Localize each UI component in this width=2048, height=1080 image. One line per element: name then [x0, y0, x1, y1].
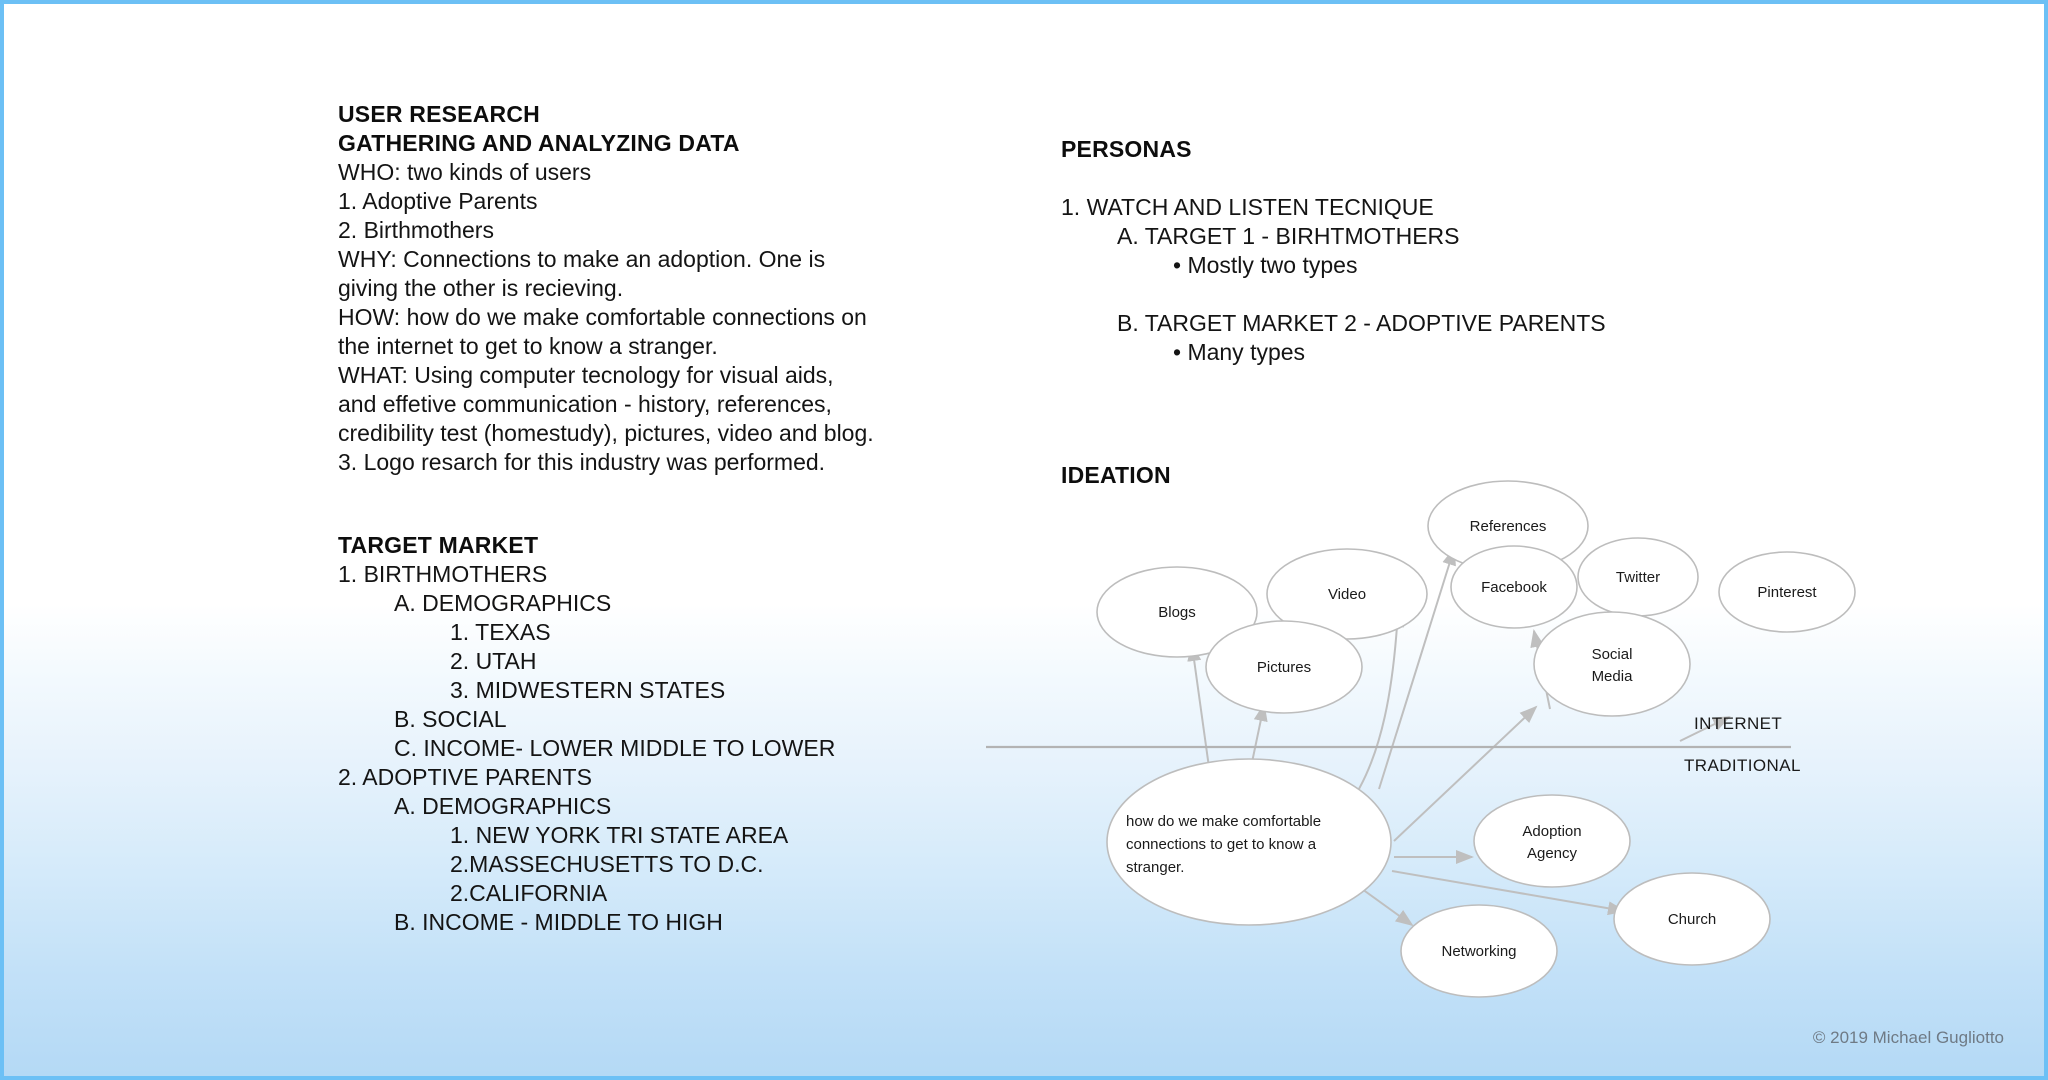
target-market-line-11: 2.CALIFORNIA: [338, 879, 998, 908]
node-label-networking: Networking: [1441, 943, 1516, 960]
user-research-heading-line-2: GATHERING AND ANALYZING DATA: [338, 129, 978, 158]
target-market-line-6: C. INCOME- LOWER MIDDLE TO LOWER: [338, 734, 998, 763]
personas-line-0: 1. WATCH AND LISTEN TECNIQUE: [1061, 193, 1821, 222]
node-label-church: Church: [1668, 911, 1716, 928]
node-label-video: Video: [1328, 586, 1366, 603]
target-market-line-7: 2. ADOPTIVE PARENTS: [338, 763, 998, 792]
zone-label-traditional: TRADITIONAL: [1684, 756, 1801, 775]
personas-line-4: B. TARGET MARKET 2 - ADOPTIVE PARENTS: [1061, 309, 1821, 338]
node-church[interactable]: Church: [1614, 873, 1770, 965]
personas-section: PERSONAS 1. WATCH AND LISTEN TECNIQUEA. …: [1061, 135, 1821, 367]
user-research-line-7: WHAT: Using computer tecnology for visua…: [338, 361, 978, 390]
target-market-line-3: 2. UTAH: [338, 647, 998, 676]
zone-label-internet: INTERNET: [1694, 714, 1782, 733]
node-facebook[interactable]: Facebook: [1451, 546, 1577, 628]
personas-line-5: • Many types: [1061, 338, 1821, 367]
node-label-adoption-agency-line-2: Agency: [1527, 845, 1578, 862]
user-research-body: WHO: two kinds of users1. Adoptive Paren…: [338, 158, 978, 477]
personas-heading: PERSONAS: [1061, 135, 1821, 164]
target-market-section: TARGET MARKET 1. BIRTHMOTHERSA. DEMOGRAP…: [338, 531, 998, 937]
node-label-central-line-3: stranger.: [1126, 859, 1184, 876]
target-market-line-10: 2.MASSECHUSETTS TO D.C.: [338, 850, 998, 879]
node-pinterest[interactable]: Pinterest: [1719, 552, 1855, 632]
node-label-central-line-2: connections to get to know a: [1126, 836, 1317, 853]
user-research-line-3: WHY: Connections to make an adoption. On…: [338, 245, 978, 274]
target-market-body: 1. BIRTHMOTHERSA. DEMOGRAPHICS1. TEXAS2.…: [338, 560, 998, 937]
node-label-twitter: Twitter: [1616, 569, 1660, 586]
target-market-heading: TARGET MARKET: [338, 531, 998, 560]
target-market-line-12: B. INCOME - MIDDLE TO HIGH: [338, 908, 998, 937]
user-research-line-4: giving the other is recieving.: [338, 274, 978, 303]
user-research-section: USER RESEARCH GATHERING AND ANALYZING DA…: [338, 100, 978, 477]
user-research-line-5: HOW: how do we make comfortable connecti…: [338, 303, 978, 332]
node-pictures[interactable]: Pictures: [1206, 621, 1362, 713]
node-label-adoption-agency-line-1: Adoption: [1522, 823, 1581, 840]
node-twitter[interactable]: Twitter: [1578, 538, 1698, 616]
user-research-line-2: 2. Birthmothers: [338, 216, 978, 245]
edge-central-to-video: [1346, 611, 1398, 809]
target-market-line-8: A. DEMOGRAPHICS: [338, 792, 998, 821]
node-networking[interactable]: Networking: [1401, 905, 1557, 997]
node-label-facebook: Facebook: [1481, 579, 1547, 596]
personas-line-2: • Mostly two types: [1061, 251, 1821, 280]
slide-page: USER RESEARCH GATHERING AND ANALYZING DA…: [0, 0, 2048, 1080]
target-market-line-9: 1. NEW YORK TRI STATE AREA: [338, 821, 998, 850]
node-label-blogs: Blogs: [1158, 604, 1196, 621]
copyright-notice: © 2019 Michael Gugliotto: [1813, 1028, 2004, 1048]
target-market-line-1: A. DEMOGRAPHICS: [338, 589, 998, 618]
user-research-line-10: 3. Logo resarch for this industry was pe…: [338, 448, 978, 477]
node-central-question[interactable]: how do we make comfortable connections t…: [1107, 759, 1391, 925]
personas-body: 1. WATCH AND LISTEN TECNIQUEA. TARGET 1 …: [1061, 193, 1821, 367]
ideation-mindmap: INTERNET TRADITIONAL References Video Bl…: [1084, 459, 1904, 989]
node-label-pinterest: Pinterest: [1757, 584, 1817, 601]
target-market-line-0: 1. BIRTHMOTHERS: [338, 560, 998, 589]
node-label-central-line-1: how do we make comfortable: [1126, 813, 1321, 830]
personas-spacer: [1061, 164, 1821, 193]
user-research-line-8: and effetive communication - history, re…: [338, 390, 978, 419]
node-label-social-media-line-2: Media: [1592, 668, 1634, 685]
target-market-line-5: B. SOCIAL: [338, 705, 998, 734]
user-research-line-0: WHO: two kinds of users: [338, 158, 978, 187]
node-adoption-agency[interactable]: Adoption Agency: [1474, 795, 1630, 887]
user-research-line-6: the internet to get to know a stranger.: [338, 332, 978, 361]
edge-central-to-networking: [1362, 889, 1412, 925]
user-research-heading-line-1: USER RESEARCH: [338, 100, 978, 129]
user-research-line-1: 1. Adoptive Parents: [338, 187, 978, 216]
node-label-social-media-line-1: Social: [1592, 646, 1633, 663]
node-label-pictures: Pictures: [1257, 659, 1311, 676]
target-market-line-2: 1. TEXAS: [338, 618, 998, 647]
target-market-line-4: 3. MIDWESTERN STATES: [338, 676, 998, 705]
personas-spacer-3: [1061, 280, 1821, 309]
node-social-media[interactable]: Social Media: [1534, 612, 1690, 716]
node-label-references: References: [1470, 518, 1547, 535]
user-research-line-9: credibility test (homestudy), pictures, …: [338, 419, 978, 448]
personas-line-1: A. TARGET 1 - BIRHTMOTHERS: [1061, 222, 1821, 251]
